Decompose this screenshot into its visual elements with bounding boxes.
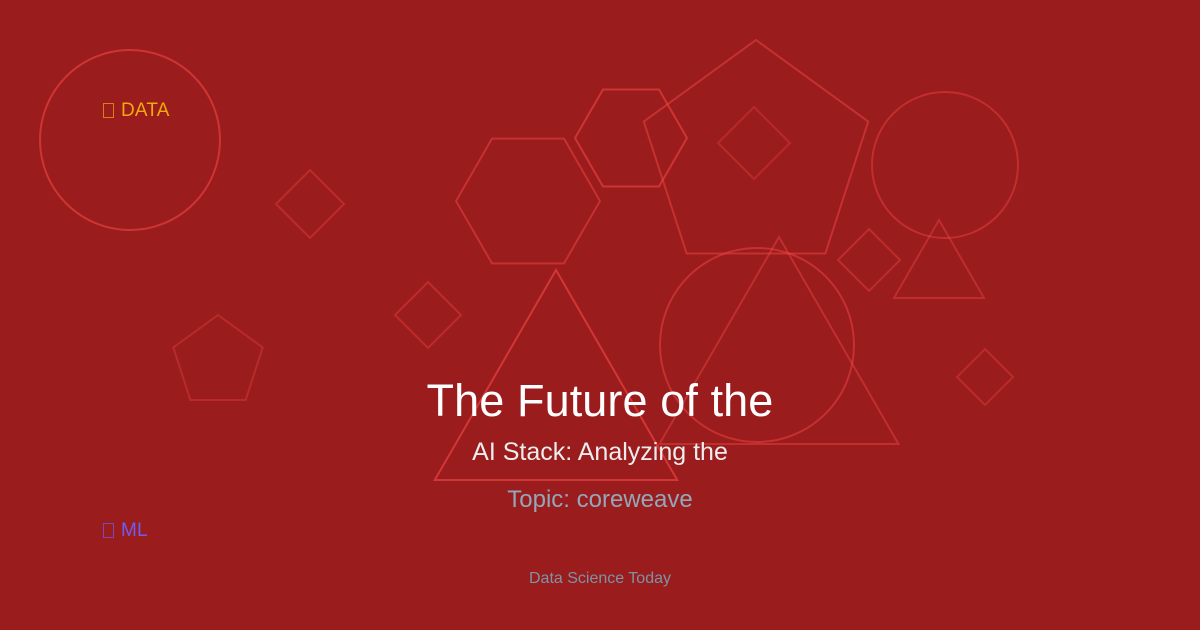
triangle-center-right bbox=[659, 237, 898, 444]
decorative-shapes-layer bbox=[0, 0, 1200, 630]
tag-ml-label: ML bbox=[121, 520, 148, 541]
tag-ml: ML bbox=[103, 521, 148, 540]
circle-top-left bbox=[40, 50, 220, 230]
social-card: DATA ML The Future of the AI Stack: Anal… bbox=[0, 0, 1200, 630]
hexagon-center-small bbox=[575, 90, 687, 187]
diamond-right-mid bbox=[838, 229, 900, 291]
missing-glyph-icon bbox=[103, 523, 114, 538]
triangle-center-left bbox=[435, 270, 677, 480]
diamond-right-lower bbox=[957, 349, 1013, 405]
pentagon-left-lower bbox=[173, 315, 262, 400]
missing-glyph-icon bbox=[103, 103, 114, 118]
hexagon-center-large bbox=[456, 139, 600, 264]
diamond-left-lower bbox=[395, 282, 461, 348]
circle-top-right bbox=[872, 92, 1018, 238]
triangle-right-small bbox=[894, 220, 984, 298]
tag-data-label: DATA bbox=[121, 100, 170, 121]
pentagon-center-large bbox=[644, 40, 868, 253]
diamond-in-pentagon bbox=[718, 107, 790, 179]
tag-data: DATA bbox=[103, 101, 170, 120]
diamond-left-upper bbox=[276, 170, 344, 238]
